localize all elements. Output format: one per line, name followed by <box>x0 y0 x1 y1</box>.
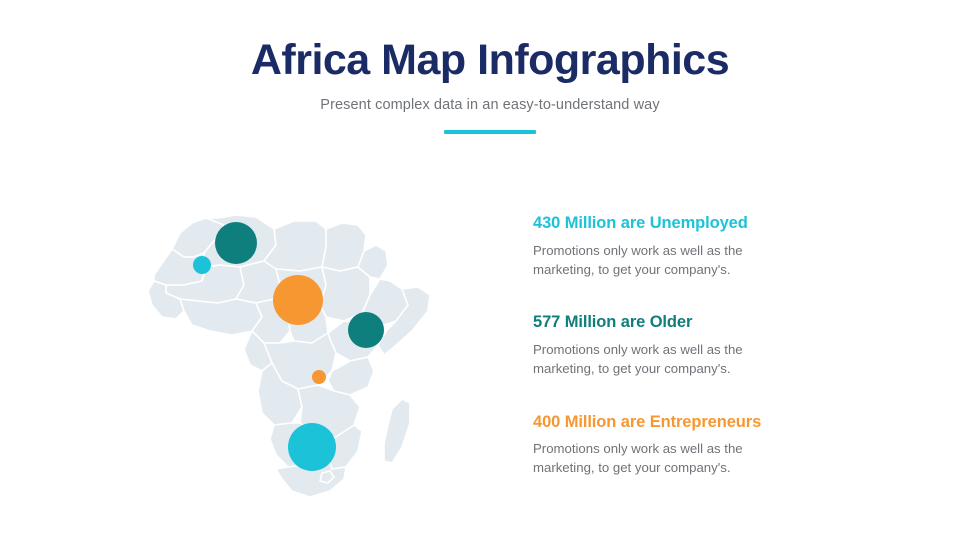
stat-heading-entrepreneurs: 400 Million are Entrepreneurs <box>533 413 863 433</box>
marker-chad[interactable] <box>273 275 323 325</box>
stat-block-older: 577 Million are Older Promotions only wo… <box>533 313 863 378</box>
marker-mali[interactable] <box>193 256 211 274</box>
slide-header: Africa Map Infographics Present complex … <box>0 38 980 134</box>
country-tanzania <box>328 357 374 395</box>
page-title: Africa Map Infographics <box>0 38 980 83</box>
stat-body-older: Promotions only work as well as the mark… <box>533 341 791 378</box>
marker-southafrica[interactable] <box>288 423 336 471</box>
title-accent-bar <box>444 130 536 134</box>
africa-map-container <box>140 185 470 505</box>
stat-body-unemployed: Promotions only work as well as the mark… <box>533 242 791 279</box>
country-west-coast <box>180 299 262 335</box>
stat-block-entrepreneurs: 400 Million are Entrepreneurs Promotions… <box>533 413 863 478</box>
stat-heading-unemployed: 430 Million are Unemployed <box>533 214 863 234</box>
island-madagascar <box>384 399 410 463</box>
marker-drc[interactable] <box>312 370 326 384</box>
marker-ethiopia[interactable] <box>348 312 384 348</box>
africa-landmass <box>148 215 430 497</box>
africa-map-svg <box>140 185 470 505</box>
stat-block-unemployed: 430 Million are Unemployed Promotions on… <box>533 214 863 279</box>
stat-heading-older: 577 Million are Older <box>533 313 863 333</box>
slide-root: Africa Map Infographics Present complex … <box>0 0 980 551</box>
stats-list: 430 Million are Unemployed Promotions on… <box>533 214 863 478</box>
stat-body-entrepreneurs: Promotions only work as well as the mark… <box>533 440 791 477</box>
marker-algeria[interactable] <box>215 222 257 264</box>
page-subtitle: Present complex data in an easy-to-under… <box>0 97 980 113</box>
